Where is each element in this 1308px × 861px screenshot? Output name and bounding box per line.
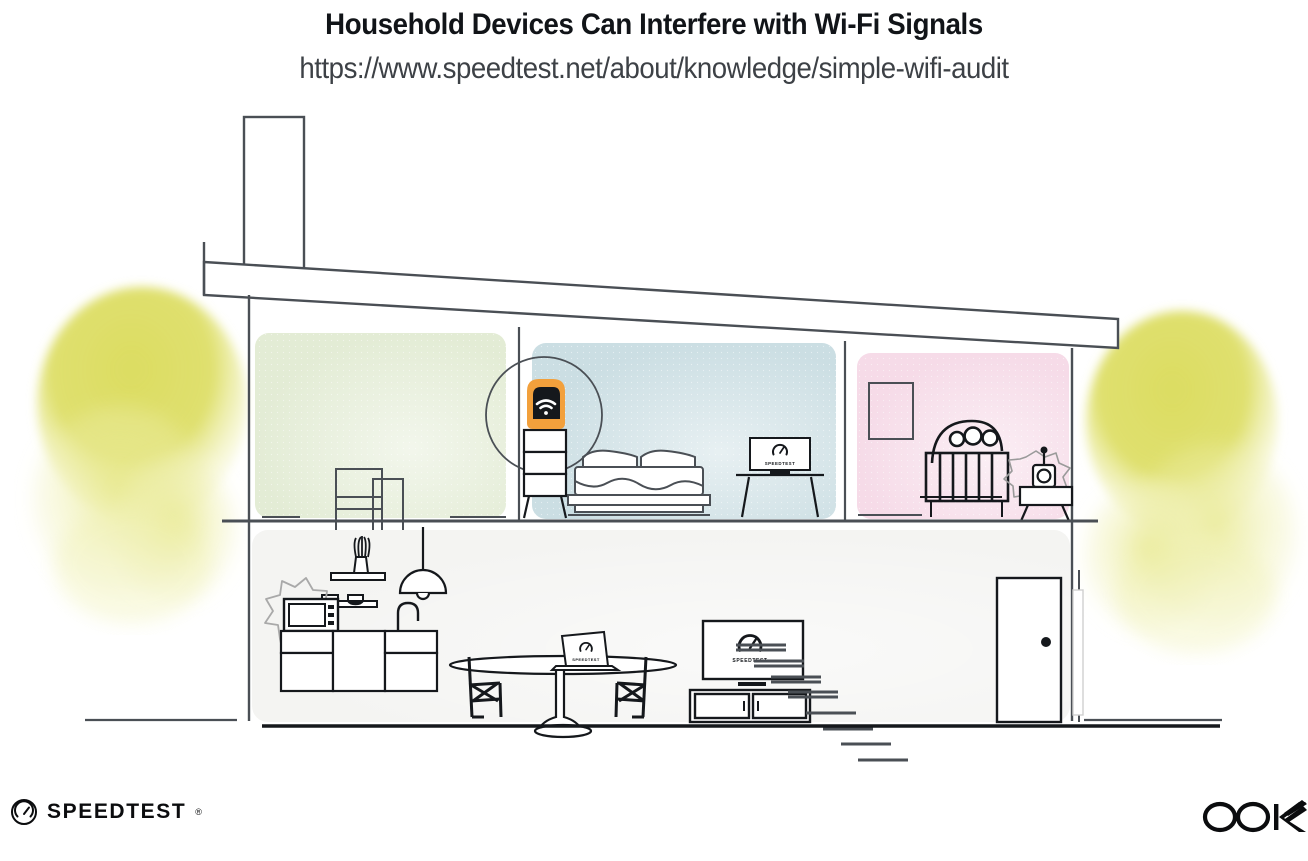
wifi-router[interactable]: [527, 379, 565, 429]
monitor: SPEEDTEST: [750, 438, 810, 474]
speedtest-brand: SPEEDTEST ®: [10, 798, 202, 826]
monitor-screen-text: SPEEDTEST: [765, 461, 796, 466]
page-title: Household Devices Can Interfere with Wi-…: [52, 8, 1255, 42]
front-door[interactable]: [997, 578, 1061, 722]
door-knob[interactable]: [1041, 637, 1051, 647]
registered-mark: ®: [195, 807, 202, 817]
page-url: https://www.speedtest.net/about/knowledg…: [52, 52, 1255, 86]
kitchen-counter: [281, 631, 437, 691]
bush-right: [1084, 311, 1297, 653]
speedtest-wordmark: SPEEDTEST: [47, 800, 186, 824]
ookla-brand: ® OOKLA: [1198, 795, 1308, 839]
laptop-screen-text: SPEEDTEST: [572, 657, 600, 662]
microwave: [284, 599, 338, 631]
sloped-roof: [204, 242, 1118, 348]
chimney: [244, 117, 304, 275]
room-ground-floor: [252, 530, 1070, 722]
door-frame-edge: [1073, 570, 1083, 722]
illustration-page: Household Devices Can Interfere with Wi-…: [0, 0, 1308, 861]
house-cutaway-svg: SPEEDTEST: [0, 105, 1308, 765]
room-bedroom-green: [255, 333, 506, 518]
speedtest-gauge-icon: [10, 798, 38, 826]
ookla-logo: ® OOKLA: [1198, 795, 1308, 839]
bush-left: [32, 287, 247, 623]
house-illustration: SPEEDTEST: [0, 105, 1308, 765]
media-console: [690, 690, 810, 722]
